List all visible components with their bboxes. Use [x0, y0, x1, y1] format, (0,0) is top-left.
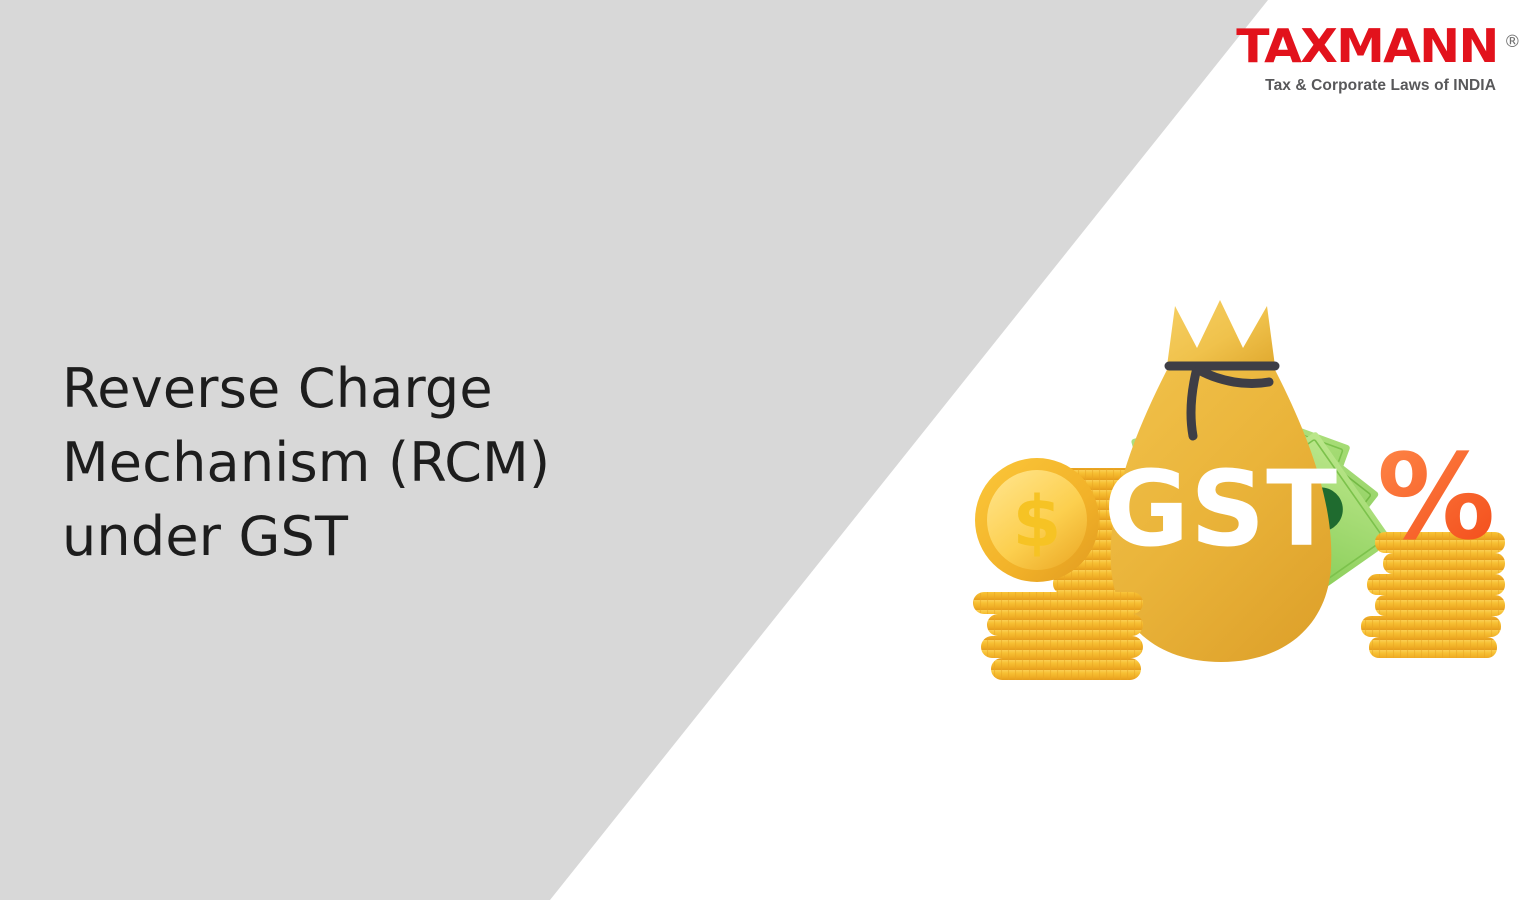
- page-title: Reverse Charge Mechanism (RCM) under GST: [62, 352, 682, 574]
- title-line-2: Mechanism (RCM): [62, 426, 682, 500]
- logo-wordmark: TAXMANN ®: [1236, 22, 1498, 70]
- percent-symbol-text: %: [1377, 428, 1492, 566]
- taxmann-logo[interactable]: TAXMANN ® Tax & Corporate Laws of INDIA: [1248, 22, 1498, 95]
- title-line-3: under GST: [62, 500, 682, 574]
- registered-trademark-icon: ®: [1504, 18, 1521, 66]
- title-line-1: Reverse Charge: [62, 352, 682, 426]
- coin-stack-left-front: [973, 592, 1143, 680]
- bag-top-crown: [1167, 300, 1275, 366]
- logo-wordmark-text: TAXMANN: [1236, 19, 1498, 73]
- gst-money-bag-illustration: % GST: [935, 270, 1505, 700]
- dollar-coin: $: [975, 458, 1099, 582]
- bag-gst-label: GST: [1104, 448, 1338, 570]
- slide-canvas: Reverse Charge Mechanism (RCM) under GST…: [0, 0, 1536, 900]
- dollar-coin-symbol: $: [1013, 481, 1062, 563]
- logo-tagline: Tax & Corporate Laws of INDIA: [1248, 77, 1496, 95]
- percent-symbol: %: [1377, 428, 1492, 566]
